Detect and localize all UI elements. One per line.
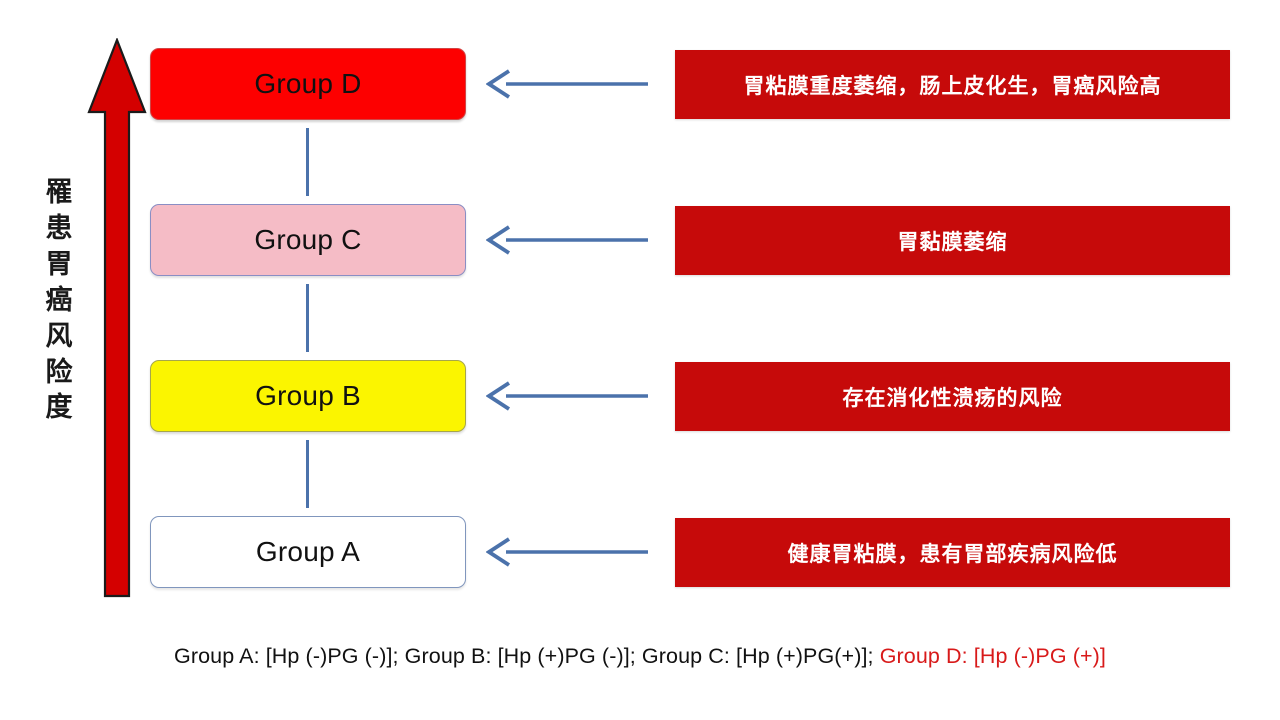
legend-caption: Group A: [Hp (-)PG (-)]; Group B: [Hp (+… (0, 644, 1280, 669)
description-banner-c: 胃黏膜萎缩 (675, 206, 1230, 275)
description-banner-a: 健康胃粘膜，患有胃部疾病风险低 (675, 518, 1230, 587)
left-arrow-icon-c (486, 225, 648, 255)
group-box-d[interactable]: Group D (150, 48, 466, 120)
group-box-a[interactable]: Group A (150, 516, 466, 588)
group-box-b[interactable]: Group B (150, 360, 466, 432)
group-box-c-label: Group C (254, 224, 361, 256)
left-arrow-icon-d (486, 69, 648, 99)
connector-line-ab (306, 440, 309, 508)
left-arrow-icon-b (486, 381, 648, 411)
connector-line-bc (306, 284, 309, 352)
group-box-c[interactable]: Group C (150, 204, 466, 276)
legend-caption-black: Group A: [Hp (-)PG (-)]; Group B: [Hp (+… (174, 644, 880, 668)
description-banner-a-text: 健康胃粘膜，患有胃部疾病风险低 (788, 538, 1118, 568)
description-banner-b: 存在消化性溃疡的风险 (675, 362, 1230, 431)
left-arrow-icon-a (486, 537, 648, 567)
risk-axis-label: 罹患胃癌风险度 (36, 175, 82, 426)
connector-line-cd (306, 128, 309, 196)
description-banner-c-text: 胃黏膜萎缩 (898, 226, 1008, 256)
group-box-d-label: Group D (254, 68, 361, 100)
risk-up-arrow-icon (86, 38, 148, 598)
description-banner-b-text: 存在消化性溃疡的风险 (843, 382, 1063, 412)
diagram-canvas: 罹患胃癌风险度 Group D Group C Group B Group A (0, 0, 1280, 720)
description-banner-d: 胃粘膜重度萎缩，肠上皮化生，胃癌风险高 (675, 50, 1230, 119)
legend-caption-red: Group D: [Hp (-)PG (+)] (880, 644, 1106, 668)
description-banner-d-text: 胃粘膜重度萎缩，肠上皮化生，胃癌风险高 (744, 70, 1162, 100)
group-box-a-label: Group A (256, 536, 360, 568)
group-box-b-label: Group B (255, 380, 361, 412)
